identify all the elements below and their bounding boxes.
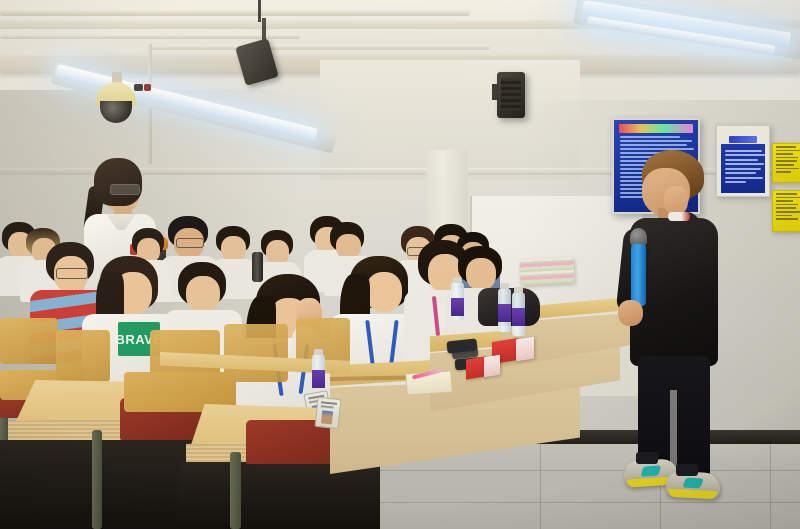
glasses-icon bbox=[176, 238, 204, 248]
name-tent-card bbox=[516, 337, 534, 362]
id-badge bbox=[314, 397, 341, 429]
book-stack bbox=[519, 257, 574, 286]
seat-desk-back-a bbox=[0, 318, 58, 364]
water-bottle bbox=[312, 354, 325, 388]
conduit-pipe-a bbox=[0, 10, 470, 16]
presenter-sock-right bbox=[676, 464, 698, 476]
poster-yellow-lower bbox=[772, 190, 800, 232]
camera-led-red bbox=[144, 84, 151, 91]
presenter-sock-left bbox=[636, 452, 658, 464]
conduit-pipe-c bbox=[150, 45, 490, 50]
name-tent-card bbox=[484, 355, 500, 378]
presenter-mic-hand bbox=[618, 300, 643, 326]
standing-presenter bbox=[612, 150, 740, 510]
poster-header bbox=[721, 130, 765, 142]
glasses-icon bbox=[56, 268, 88, 279]
seat-frame-b bbox=[92, 430, 102, 529]
microphone-body bbox=[631, 244, 646, 306]
woman-hair bbox=[94, 158, 142, 206]
foreground-desk2-shadow bbox=[180, 462, 380, 529]
water-bottle bbox=[512, 292, 525, 336]
classroom-photo: BRAVE bbox=[0, 0, 800, 529]
water-bottle bbox=[498, 288, 511, 332]
wristband bbox=[668, 212, 690, 221]
conduit-pipe-b bbox=[0, 34, 300, 39]
glasses-icon bbox=[110, 184, 140, 195]
water-bottle bbox=[451, 282, 464, 320]
projector-cable bbox=[258, 0, 261, 22]
poster-title-band bbox=[619, 124, 693, 133]
seat-frame-c bbox=[230, 452, 241, 529]
seat-desk-back-b bbox=[56, 330, 110, 382]
speaker-grill bbox=[501, 78, 521, 110]
poster-yellow-upper bbox=[772, 143, 800, 183]
camera-led bbox=[134, 84, 143, 91]
name-tent-card bbox=[466, 356, 486, 379]
